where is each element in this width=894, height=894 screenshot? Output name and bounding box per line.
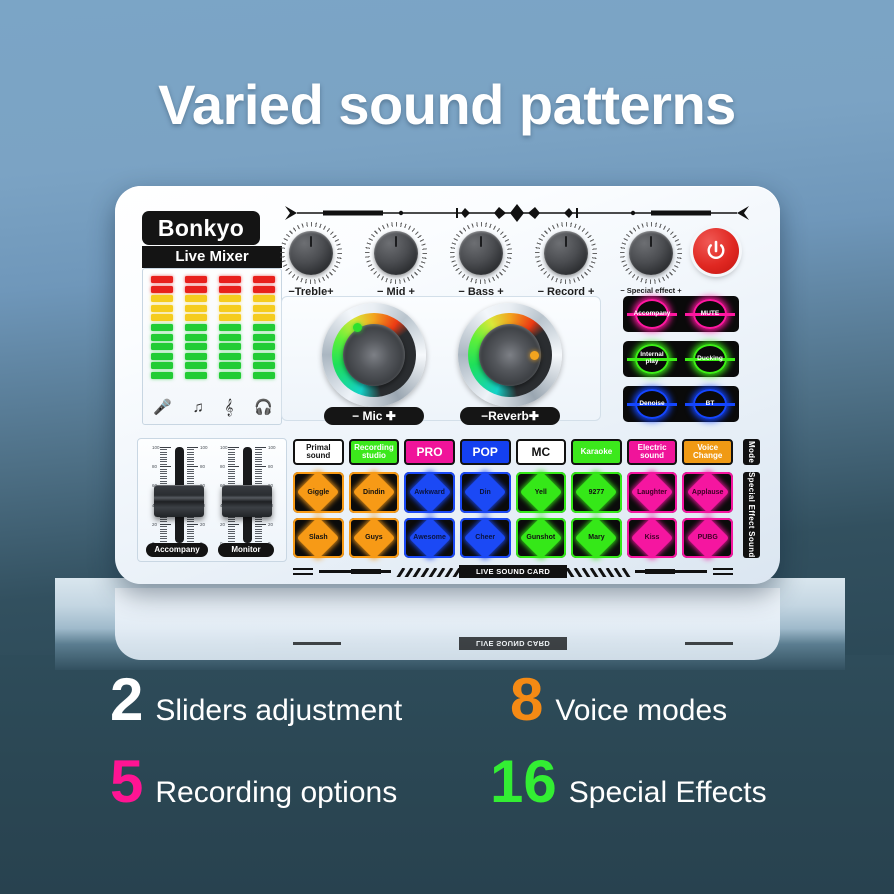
bluetooth-button[interactable]: BT: [693, 389, 727, 419]
led-segment: [151, 314, 173, 321]
slider-tick: [187, 531, 194, 532]
bottom-decor-strip: LIVE SOUND CARD: [293, 564, 733, 580]
decorative-ornament: [283, 202, 751, 224]
slider-tick: [160, 461, 167, 462]
slider-tick: [255, 536, 262, 537]
slider-tick: [228, 533, 235, 534]
effect-pad-label: Applause: [692, 489, 724, 496]
slider-tick: [228, 529, 235, 530]
slider-tick: [255, 476, 262, 477]
slider-tick: [160, 452, 167, 453]
voice-mode-label: Voice Change: [685, 444, 730, 461]
slider-panel: 100806040200 100806040200 100806040200 1…: [137, 438, 287, 562]
led-segment: [185, 276, 207, 283]
slider-tick: [228, 469, 235, 470]
slider-tick: [255, 524, 266, 525]
effect-pad-applause[interactable]: Applause: [682, 472, 733, 513]
slider-tick: [255, 447, 266, 448]
led-segment: [219, 324, 241, 331]
effect-pad-awesome[interactable]: Awesome: [404, 518, 455, 559]
knob-bass[interactable]: − Bass +: [450, 222, 512, 284]
slider-scale-number: 100: [220, 445, 228, 450]
knob-mic[interactable]: − Mic ✚: [322, 303, 426, 407]
slider-tick: [228, 454, 235, 455]
slider-tick: [228, 459, 235, 460]
ducking-button[interactable]: Ducking: [693, 344, 727, 374]
stat-number: 8: [510, 670, 543, 730]
slider-tick: [187, 529, 194, 530]
slider-tick: [187, 447, 198, 448]
slider-tick: [255, 457, 262, 458]
effect-pad-label: Awkward: [414, 489, 445, 496]
slider-tick: [228, 457, 235, 458]
slider-tick: [255, 449, 262, 450]
stat-text: Sliders adjustment: [155, 694, 402, 728]
slider-label-accompany: Accompany: [146, 543, 208, 557]
slider-tick: [160, 466, 171, 467]
brand-logo: Bonkyo: [142, 211, 260, 245]
led-segment: [185, 295, 207, 302]
effect-pad-yell[interactable]: Yell: [516, 472, 567, 513]
slider-tick: [160, 536, 167, 537]
led-segment: [185, 362, 207, 369]
led-segment: [185, 305, 207, 312]
slider-tick: [187, 526, 194, 527]
slider-tick: [228, 471, 235, 472]
button-label: Internal play: [635, 352, 669, 366]
slider-scale-number: 100: [200, 445, 208, 450]
slider-tick: [160, 464, 167, 465]
slider-tick: [228, 461, 235, 462]
effect-pad-9277[interactable]: 9277: [571, 472, 622, 513]
slider-label-monitor: Monitor: [218, 543, 274, 557]
voice-mode-pop[interactable]: POP: [460, 439, 511, 465]
stat-text: Special Effects: [569, 776, 767, 810]
led-segment: [151, 305, 173, 312]
led-segment: [219, 353, 241, 360]
slider-tick: [228, 526, 235, 527]
led-segment: [151, 343, 173, 350]
led-segment: [151, 362, 173, 369]
glow-button-row-1: Accompany MUTE: [623, 296, 739, 332]
led-column: [151, 276, 173, 394]
slider-tick: [160, 529, 167, 530]
voice-mode-label: Electric sound: [630, 444, 675, 461]
live-sound-card-badge: LIVE SOUND CARD: [459, 565, 567, 578]
knob-label: −Reverb✚: [460, 407, 560, 425]
effect-pad-slash[interactable]: Slash: [293, 518, 344, 559]
stat-number: 16: [490, 752, 557, 812]
slider-tick: [228, 524, 239, 525]
slider-tick: [228, 466, 239, 467]
illuminated-button-panel: Accompany MUTE Internal play Ducking Den…: [623, 296, 739, 421]
led-segment: [219, 295, 241, 302]
slider-tick: [160, 471, 167, 472]
knob-label: − Special effect +: [608, 286, 694, 295]
knob-treble[interactable]: −Treble+: [280, 222, 342, 284]
denoise-button[interactable]: Denoise: [635, 389, 669, 419]
knob-indicator-dot: [530, 351, 539, 360]
button-label: MUTE: [701, 311, 719, 318]
slider-tick: [255, 473, 262, 474]
mode-side-label: Mode: [743, 439, 760, 465]
slider-tick: [160, 524, 171, 525]
slider-tick: [187, 461, 194, 462]
slider-tick: [160, 478, 167, 479]
effect-pad-label: Cheer: [475, 534, 495, 541]
effect-pad-din[interactable]: Din: [460, 472, 511, 513]
led-segment: [185, 324, 207, 331]
slider-scale-number: 80: [200, 464, 205, 469]
slider-scale-number: 20: [152, 522, 157, 527]
microphone-icon: 🎤: [153, 398, 172, 416]
button-label: Accompany: [634, 311, 671, 318]
led-segment: [253, 353, 275, 360]
led-segment: [253, 362, 275, 369]
slider-tick: [228, 531, 235, 532]
led-segment: [185, 334, 207, 341]
led-segment: [253, 334, 275, 341]
slider-tick: [160, 521, 167, 522]
slider-tick: [187, 524, 198, 525]
slider-tick: [228, 476, 235, 477]
effect-pad-label: Mary: [588, 534, 604, 541]
slider-tick: [160, 483, 167, 484]
stat-voice-modes: 8 Voice modes: [510, 670, 727, 730]
stat-number: 5: [110, 752, 143, 812]
slider-tick: [160, 457, 167, 458]
voice-mode-label: POP: [473, 446, 498, 459]
effect-pad-giggle[interactable]: Giggle: [293, 472, 344, 513]
effect-pad-label: Yell: [535, 489, 547, 496]
slider-tick: [187, 476, 194, 477]
glow-button-row-3: Denoise BT: [623, 386, 739, 422]
voice-mode-pro[interactable]: PRO: [404, 439, 455, 465]
button-label: BT: [706, 401, 715, 408]
slider-monitor[interactable]: 100806040200 100806040200: [216, 447, 278, 543]
led-segment: [219, 305, 241, 312]
slider-handle[interactable]: [222, 485, 272, 517]
slider-accompany[interactable]: 100806040200 100806040200: [148, 447, 210, 543]
effect-pad-label: Din: [480, 489, 491, 496]
power-button[interactable]: [693, 228, 739, 274]
stat-recording-options: 5 Recording options: [110, 752, 397, 812]
reflection-badge: LIVE SOUND CARD: [459, 637, 567, 650]
stat-text: Recording options: [155, 776, 397, 810]
slider-tick: [228, 541, 235, 542]
knob-mid[interactable]: − Mid +: [365, 222, 427, 284]
led-segment: [185, 372, 207, 379]
voice-mode-label: Primal sound: [296, 444, 341, 461]
slider-tick: [255, 533, 262, 534]
effect-pad-label: PUBG: [698, 534, 718, 541]
effect-pad-label: 9277: [589, 489, 605, 496]
effect-pad-label: Laughter: [637, 489, 667, 496]
special-effect-side-label: Special Effect Sound: [743, 472, 760, 558]
effect-pad-label: Awesome: [413, 534, 446, 541]
slider-tick: [160, 459, 167, 460]
slider-scale-number: 100: [268, 445, 276, 450]
slider-tick: [187, 478, 194, 479]
slider-tick: [228, 519, 235, 520]
slider-tick: [187, 469, 194, 470]
led-grid: [151, 276, 275, 394]
led-segment: [253, 314, 275, 321]
slider-tick: [160, 454, 167, 455]
effect-pad-label: Gunshot: [526, 534, 555, 541]
led-segment: [151, 276, 173, 283]
slider-tick: [160, 469, 167, 470]
effect-pad-label: Kiss: [645, 534, 660, 541]
slider-tick: [255, 519, 262, 520]
accompany-button[interactable]: Accompany: [635, 299, 669, 329]
voice-mode-label: Recording studio: [352, 444, 397, 461]
led-segment: [151, 334, 173, 341]
mute-button[interactable]: MUTE: [693, 299, 727, 329]
knob-record[interactable]: − Record +: [535, 222, 597, 284]
device-reflection: LIVE SOUND CARD: [115, 588, 780, 660]
led-segment: [151, 353, 173, 360]
effect-pad-laughter[interactable]: Laughter: [627, 472, 678, 513]
led-segment: [219, 372, 241, 379]
sound-card-device: Bonkyo Live Mixer 🎤 ♫ 𝄞 🎧 −Treble+ − Mid…: [115, 186, 780, 584]
led-segment: [219, 314, 241, 321]
slider-tick: [187, 483, 194, 484]
slider-tick: [187, 481, 194, 482]
voice-mode-label: Karaoke: [581, 448, 613, 456]
slider-tick: [228, 483, 235, 484]
led-segment: [219, 286, 241, 293]
slider-tick: [255, 541, 262, 542]
slider-tick: [255, 454, 262, 455]
slider-tick: [160, 473, 167, 474]
slider-scale-number: 100: [152, 445, 160, 450]
slider-tick: [187, 471, 194, 472]
knob-indicator-dot: [353, 323, 362, 332]
led-segment: [185, 286, 207, 293]
slider-tick: [187, 533, 194, 534]
slider-scale-number: 20: [200, 522, 205, 527]
effect-pad-label: Guys: [365, 534, 383, 541]
effect-pad-cheer[interactable]: Cheer: [460, 518, 511, 559]
voice-mode-label: MC: [531, 446, 550, 459]
effect-pad-dindin[interactable]: Dindin: [349, 472, 400, 513]
slider-scale-number: 80: [152, 464, 157, 469]
effect-pad-label: Giggle: [307, 489, 329, 496]
slider-handle[interactable]: [154, 485, 204, 517]
slider-tick: [187, 538, 194, 539]
slider-tick: [228, 452, 235, 453]
led-segment: [219, 334, 241, 341]
slider-tick: [255, 464, 262, 465]
led-column: [219, 276, 241, 394]
slider-tick: [228, 478, 235, 479]
stat-text: Voice modes: [555, 694, 727, 728]
knob-special-effect[interactable]: − Special effect +: [620, 222, 682, 284]
voice-mode-primal-sound[interactable]: Primal sound: [293, 439, 344, 465]
slider-tick: [255, 469, 262, 470]
effect-pad-mary[interactable]: Mary: [571, 518, 622, 559]
slider-tick: [228, 538, 235, 539]
knob-cap: [343, 324, 405, 386]
led-column: [185, 276, 207, 394]
slider-tick: [255, 461, 262, 462]
eq-knob-row: −Treble+ − Mid + − Bass + − Record + − S…: [280, 222, 700, 302]
effect-pad-pubg[interactable]: PUBG: [682, 518, 733, 559]
knob-reverb[interactable]: −Reverb✚: [458, 303, 562, 407]
stat-number: 2: [110, 670, 143, 730]
led-segment: [253, 343, 275, 350]
slider-tick: [187, 454, 194, 455]
slider-tick: [187, 536, 194, 537]
special-effects-grid: GiggleDindinAwkwardDinYell9277LaughterAp…: [293, 472, 733, 558]
slider-tick: [228, 449, 235, 450]
led-segment: [253, 305, 275, 312]
slider-tick: [255, 478, 262, 479]
slider-tick: [187, 459, 194, 460]
slider-tick: [255, 459, 262, 460]
slider-tick: [255, 538, 262, 539]
slider-tick: [160, 533, 167, 534]
slider-tick: [255, 466, 266, 467]
led-segment: [185, 343, 207, 350]
voice-mode-recording-studio[interactable]: Recording studio: [349, 439, 400, 465]
knob-cap: [459, 231, 503, 275]
slider-tick: [187, 457, 194, 458]
music-note-icon: ♫: [193, 399, 204, 416]
voice-mode-label: PRO: [417, 446, 443, 459]
slider-tick: [255, 529, 262, 530]
led-segment: [219, 276, 241, 283]
slider-tick: [228, 447, 239, 448]
knob-label: − Mic ✚: [324, 407, 424, 425]
slider-tick: [187, 541, 194, 542]
slider-scale-number: 20: [268, 522, 273, 527]
button-label: Denoise: [639, 401, 664, 408]
slider-tick: [228, 521, 235, 522]
voice-mode-voice-change[interactable]: Voice Change: [682, 439, 733, 465]
slider-tick: [228, 536, 235, 537]
treble-clef-icon: 𝄞: [225, 399, 234, 416]
slider-tick: [187, 519, 194, 520]
slider-tick: [160, 531, 167, 532]
led-vu-meter: 🎤 ♫ 𝄞 🎧: [142, 268, 282, 425]
led-segment: [219, 343, 241, 350]
slider-tick: [187, 466, 198, 467]
slider-tick: [255, 531, 262, 532]
slider-tick: [255, 481, 262, 482]
page-title: Varied sound patterns: [0, 72, 894, 137]
led-segment: [253, 372, 275, 379]
led-segment: [151, 286, 173, 293]
slider-tick: [255, 526, 262, 527]
knob-cap: [289, 231, 333, 275]
effect-pad-label: Dindin: [363, 489, 385, 496]
voice-mode-karaoke[interactable]: Karaoke: [571, 439, 622, 465]
slider-tick: [160, 449, 167, 450]
slider-tick: [187, 449, 194, 450]
led-segment: [151, 295, 173, 302]
slider-tick: [228, 473, 235, 474]
slider-tick: [255, 452, 262, 453]
slider-tick: [160, 447, 171, 448]
meter-icon-row: 🎤 ♫ 𝄞 🎧: [143, 394, 283, 420]
slider-tick: [255, 521, 262, 522]
power-icon: [704, 239, 728, 263]
slider-scale-number: 80: [268, 464, 273, 469]
effect-pad-gunshot[interactable]: Gunshot: [516, 518, 567, 559]
slider-tick: [160, 541, 167, 542]
reflection-strip: LIVE SOUND CARD: [115, 636, 780, 652]
stat-special-effects: 16 Special Effects: [490, 752, 767, 812]
led-segment: [253, 324, 275, 331]
slider-tick: [255, 483, 262, 484]
headphones-icon: 🎧: [254, 398, 273, 416]
slider-tick: [160, 538, 167, 539]
slider-tick: [160, 481, 167, 482]
effect-pad-guys[interactable]: Guys: [349, 518, 400, 559]
led-segment: [219, 362, 241, 369]
slider-tick: [228, 481, 235, 482]
led-segment: [185, 353, 207, 360]
slider-scale-number: 20: [220, 522, 225, 527]
hatch-left: [393, 566, 471, 577]
slider-tick: [160, 476, 167, 477]
stat-sliders: 2 Sliders adjustment: [110, 670, 402, 730]
knob-cap: [544, 231, 588, 275]
product-subtitle: Live Mixer: [142, 246, 282, 268]
button-label: Ducking: [697, 356, 723, 363]
led-segment: [185, 314, 207, 321]
voice-mode-mc[interactable]: MC: [516, 439, 567, 465]
main-knob-panel: − Mic ✚ −Reverb✚: [281, 296, 601, 421]
glow-button-row-2: Internal play Ducking: [623, 341, 739, 377]
hatch-right: [555, 566, 633, 577]
led-segment: [253, 276, 275, 283]
internal-play-button[interactable]: Internal play: [635, 344, 669, 374]
slider-tick: [228, 464, 235, 465]
slider-scale-number: 80: [220, 464, 225, 469]
feature-stats: 2 Sliders adjustment 8 Voice modes 5 Rec…: [0, 662, 894, 842]
knob-cap: [374, 231, 418, 275]
effect-pad-label: Slash: [309, 534, 328, 541]
slider-tick: [187, 521, 194, 522]
slider-tick: [255, 471, 262, 472]
effect-pad-kiss[interactable]: Kiss: [627, 518, 678, 559]
slider-tick: [187, 473, 194, 474]
knob-cap: [629, 231, 673, 275]
led-segment: [151, 372, 173, 379]
slider-tick: [187, 452, 194, 453]
effect-pad-awkward[interactable]: Awkward: [404, 472, 455, 513]
led-segment: [151, 324, 173, 331]
voice-mode-row: Primal soundRecording studioPROPOPMCKara…: [293, 439, 733, 465]
slider-tick: [160, 519, 167, 520]
voice-mode-electric-sound[interactable]: Electric sound: [627, 439, 678, 465]
slider-tick: [187, 464, 194, 465]
slider-tick: [160, 526, 167, 527]
